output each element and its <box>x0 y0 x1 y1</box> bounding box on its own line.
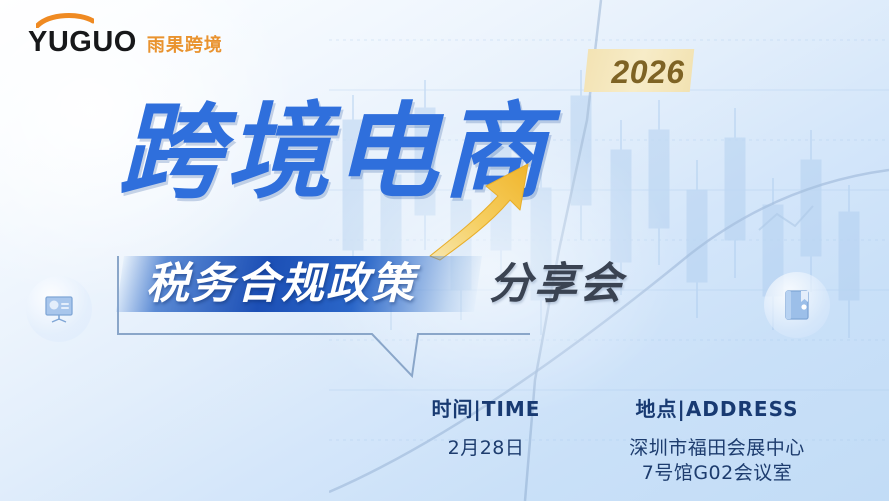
orange-arc-icon <box>36 12 94 28</box>
presentation-board-badge <box>26 276 92 342</box>
notebook-icon <box>782 288 812 322</box>
logo-chinese-name: 雨果跨境 <box>147 36 223 57</box>
subtitle-trailing: 分享会 <box>489 258 624 310</box>
event-time-block: 时间|TIME 2月28日 <box>386 396 586 461</box>
address-heading: 地点|ADDRESS <box>636 396 799 422</box>
address-value: 深圳市福田会展中心 7号馆G02会议室 <box>586 436 848 486</box>
time-line: 2月28日 <box>386 436 586 461</box>
time-heading: 时间|TIME <box>432 396 541 422</box>
brand-logo: YUGUO 雨果跨境 <box>28 14 223 57</box>
logo-mark: YUGUO <box>28 14 137 57</box>
event-address-block: 地点|ADDRESS 深圳市福田会展中心 7号馆G02会议室 <box>586 396 848 486</box>
address-line: 7号馆G02会议室 <box>586 461 848 486</box>
year-badge-label: 2026 <box>600 53 696 91</box>
presentation-board-icon <box>42 293 76 325</box>
notebook-badge <box>764 272 830 338</box>
promo-poster: YUGUO 雨果跨境 2026 跨境电商 税务合规政策 分享会 <box>0 0 889 501</box>
subtitle-highlight: 税务合规政策 <box>146 258 416 310</box>
time-value: 2月28日 <box>386 436 586 461</box>
address-line: 深圳市福田会展中心 <box>586 436 848 461</box>
